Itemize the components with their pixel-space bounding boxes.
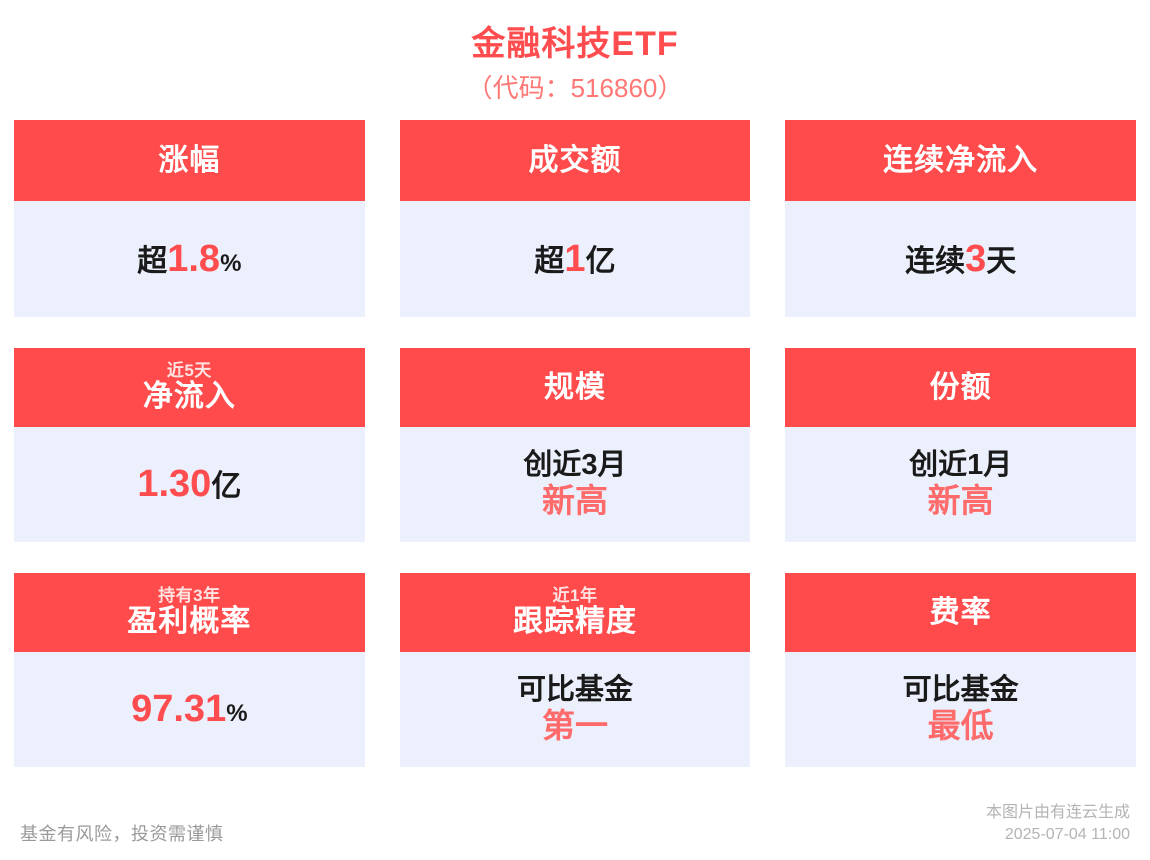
- card-header-label: 涨幅: [158, 145, 220, 177]
- value-top-line: 创近1月: [909, 449, 1012, 481]
- card-value-line: 超1亿: [534, 238, 615, 281]
- card-header-label: 盈利概率: [127, 606, 251, 638]
- card-body-tracking-accuracy: 可比基金 第一: [400, 652, 751, 767]
- value-suffix: 亿: [211, 470, 241, 504]
- card-header-fee-rate: 费率: [785, 573, 1136, 652]
- value-bottom-line: 新高: [542, 483, 608, 520]
- card-body-fee-rate: 可比基金 最低: [785, 652, 1136, 767]
- value-bottom-line: 新高: [928, 483, 994, 520]
- card-header-sublabel: 近5天: [167, 362, 212, 380]
- value-number: 3: [965, 238, 986, 281]
- metric-card-profit-probability: 持有3年 盈利概率 97.31%: [14, 573, 365, 767]
- card-body-turnover: 超1亿: [400, 201, 751, 317]
- value-prefix: 超: [137, 245, 167, 279]
- source-label: 本图片由有连云生成: [986, 802, 1130, 824]
- card-value-line: 97.31%: [131, 688, 247, 731]
- card-header-scale: 规模: [400, 348, 751, 427]
- card-body-consecutive-inflow: 连续3天: [785, 201, 1136, 317]
- metric-card-change: 涨幅 超1.8%: [14, 120, 365, 317]
- card-value-line: 连续3天: [905, 238, 1016, 281]
- metric-card-fee-rate: 费率 可比基金 最低: [785, 573, 1136, 767]
- value-prefix: 超: [534, 245, 564, 279]
- value-suffix: 天: [986, 245, 1016, 279]
- card-header-label: 净流入: [143, 381, 236, 413]
- page-footer: 基金有风险，投资需谨慎 本图片由有连云生成 2025-07-04 11:00: [0, 802, 1150, 846]
- card-header-tracking-accuracy: 近1年 跟踪精度: [400, 573, 751, 652]
- value-number: 1.30: [137, 463, 211, 506]
- value-number: 97.31: [131, 688, 226, 731]
- card-value-line: 超1.8%: [137, 238, 241, 281]
- card-header-label: 跟踪精度: [513, 606, 637, 638]
- card-header-consecutive-inflow: 连续净流入: [785, 120, 1136, 201]
- metric-card-tracking-accuracy: 近1年 跟踪精度 可比基金 第一: [400, 573, 751, 767]
- card-header-profit-probability: 持有3年 盈利概率: [14, 573, 365, 652]
- metric-card-consecutive-inflow: 连续净流入 连续3天: [785, 120, 1136, 317]
- value-suffix: %: [220, 251, 241, 278]
- card-body-scale: 创近3月 新高: [400, 427, 751, 542]
- card-header-label: 成交额: [528, 145, 621, 177]
- value-suffix: 亿: [586, 245, 616, 279]
- metric-card-grid: 涨幅 超1.8% 成交额 超1亿 连续净流入: [0, 120, 1150, 767]
- card-header-sublabel: 持有3年: [158, 587, 220, 605]
- card-header-change: 涨幅: [14, 120, 365, 201]
- value-bottom-line: 第一: [542, 708, 608, 745]
- source-info: 本图片由有连云生成 2025-07-04 11:00: [986, 802, 1130, 846]
- card-header-label: 连续净流入: [883, 145, 1038, 177]
- metric-card-scale: 规模 创近3月 新高: [400, 348, 751, 542]
- value-number: 1: [564, 238, 585, 281]
- generation-timestamp: 2025-07-04 11:00: [986, 824, 1130, 846]
- value-top-line: 可比基金: [903, 674, 1019, 706]
- card-header-label: 费率: [930, 597, 992, 629]
- page-title: 金融科技ETF: [0, 22, 1150, 66]
- card-value-line: 1.30亿: [137, 463, 241, 506]
- card-body-change: 超1.8%: [14, 201, 365, 317]
- value-bottom-line: 最低: [928, 708, 994, 745]
- card-header-net-inflow-5d: 近5天 净流入: [14, 348, 365, 427]
- card-header-shares: 份额: [785, 348, 1136, 427]
- card-header-label: 份额: [930, 372, 992, 404]
- value-top-line: 创近3月: [523, 449, 626, 481]
- etf-summary-page: 金融科技ETF （代码：516860） 涨幅 超1.8% 成交额 超1亿: [0, 0, 1150, 860]
- card-header-sublabel: 近1年: [553, 587, 598, 605]
- card-body-net-inflow-5d: 1.30亿: [14, 427, 365, 542]
- metric-card-net-inflow-5d: 近5天 净流入 1.30亿: [14, 348, 365, 542]
- risk-disclaimer: 基金有风险，投资需谨慎: [20, 820, 224, 846]
- card-header-turnover: 成交额: [400, 120, 751, 201]
- metric-card-shares: 份额 创近1月 新高: [785, 348, 1136, 542]
- value-top-line: 可比基金: [517, 674, 633, 706]
- card-body-profit-probability: 97.31%: [14, 652, 365, 767]
- value-suffix: %: [226, 701, 247, 728]
- value-prefix: 连续: [905, 245, 965, 279]
- card-body-shares: 创近1月 新高: [785, 427, 1136, 542]
- page-header: 金融科技ETF （代码：516860）: [0, 0, 1150, 106]
- metric-card-turnover: 成交额 超1亿: [400, 120, 751, 317]
- card-header-label: 规模: [544, 372, 606, 404]
- value-number: 1.8: [167, 238, 220, 281]
- fund-code: （代码：516860）: [0, 70, 1150, 106]
